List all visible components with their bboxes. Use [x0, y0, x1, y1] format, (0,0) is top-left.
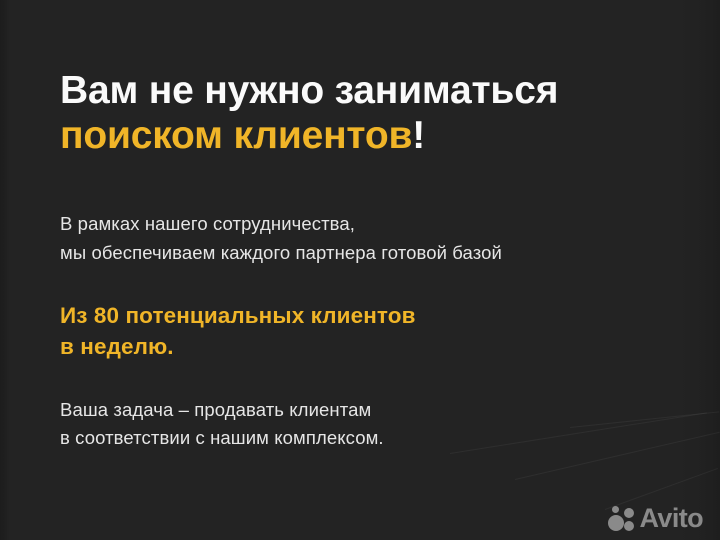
avito-wordmark: Avito: [640, 505, 704, 532]
headline-accent-phrase: поиском клиентов: [60, 114, 412, 157]
intro-paragraph: В рамках нашего сотрудничества, мы обесп…: [60, 158, 680, 266]
avito-dot-large: [608, 515, 624, 531]
avito-watermark: Avito: [608, 505, 704, 532]
closing-paragraph-line-1: Ваша задача – продавать клиентам: [60, 399, 371, 420]
highlight-line-2: в неделю.: [60, 334, 174, 359]
promo-slide: Вам не нужно заниматься поиском клиентов…: [0, 0, 720, 540]
closing-paragraph-line-2: в соответствии с нашим комплексом.: [60, 427, 384, 448]
streak-line: [605, 468, 718, 510]
headline-line-1: Вам не нужно заниматься: [60, 69, 558, 112]
headline-exclamation: !: [412, 114, 425, 157]
avito-dot-medium: [624, 508, 634, 518]
intro-paragraph-line-2: мы обеспечиваем каждого партнера готовой…: [60, 242, 502, 263]
avito-dot-lower: [624, 521, 634, 531]
closing-paragraph: Ваша задача – продавать клиентам в соотв…: [60, 363, 680, 452]
highlight-line-1: Из 80 потенциальных клиентов: [60, 303, 416, 328]
headline: Вам не нужно заниматься поиском клиентов…: [60, 0, 680, 158]
highlight-statement: Из 80 потенциальных клиентов в неделю.: [60, 267, 680, 363]
avito-dot-small: [612, 506, 619, 513]
intro-paragraph-line-1: В рамках нашего сотрудничества,: [60, 213, 355, 234]
right-edge-strip: [680, 0, 720, 540]
left-edge-strip: [0, 0, 9, 540]
avito-dots-icon: [608, 506, 634, 532]
slide-content: Вам не нужно заниматься поиском клиентов…: [60, 0, 680, 452]
